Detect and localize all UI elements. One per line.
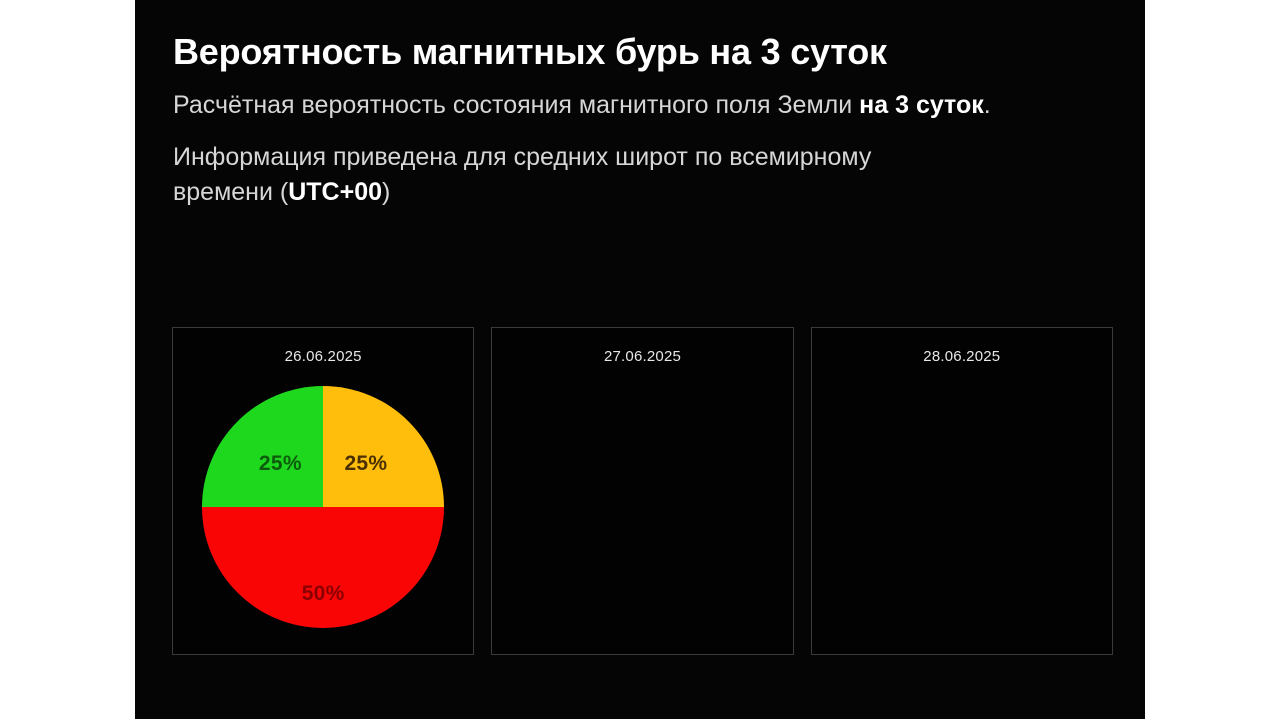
note-paragraph: Информация приведена для средних широт п… xyxy=(173,140,943,209)
page-title: Вероятность магнитных бурь на 3 суток xyxy=(173,30,1113,74)
lead-prefix-text: Расчётная вероятность состояния магнитно… xyxy=(173,91,859,119)
card-date-label: 28.06.2025 xyxy=(812,348,1112,365)
dark-content-area: Вероятность магнитных бурь на 3 суток Ра… xyxy=(135,0,1145,719)
lead-suffix-text: . xyxy=(984,91,991,119)
note-suffix-text: ) xyxy=(382,178,390,206)
pie-label-green: 25% xyxy=(259,452,302,476)
forecast-card-day-1[interactable]: 26.06.2025 25% 25% 50% xyxy=(172,327,474,655)
pie-chart-area-empty xyxy=(492,386,792,648)
forecast-cards-row: 26.06.2025 25% 25% 50% 27.06.2025 28.06.… xyxy=(172,327,1113,655)
card-date-label: 27.06.2025 xyxy=(492,348,792,365)
forecast-card-day-3[interactable]: 28.06.2025 xyxy=(811,327,1113,655)
pie-chart-area: 25% 25% 50% xyxy=(173,386,473,648)
page-root: Вероятность магнитных бурь на 3 суток Ра… xyxy=(0,0,1280,719)
note-prefix-text: Информация приведена для средних широт п… xyxy=(173,143,871,206)
header-text-block: Вероятность магнитных бурь на 3 суток Ра… xyxy=(173,30,1113,209)
pie-chart: 25% 25% 50% xyxy=(202,386,444,628)
lead-strong-text: на 3 суток xyxy=(859,91,984,119)
pie-chart-area-empty xyxy=(812,386,1112,648)
card-date-label: 26.06.2025 xyxy=(173,348,473,365)
pie-label-red: 50% xyxy=(302,582,345,606)
note-strong-text: UTC+00 xyxy=(288,178,382,206)
lead-paragraph: Расчётная вероятность состояния магнитно… xyxy=(173,88,1113,123)
forecast-card-day-2[interactable]: 27.06.2025 xyxy=(491,327,793,655)
pie-label-yellow: 25% xyxy=(344,452,387,476)
